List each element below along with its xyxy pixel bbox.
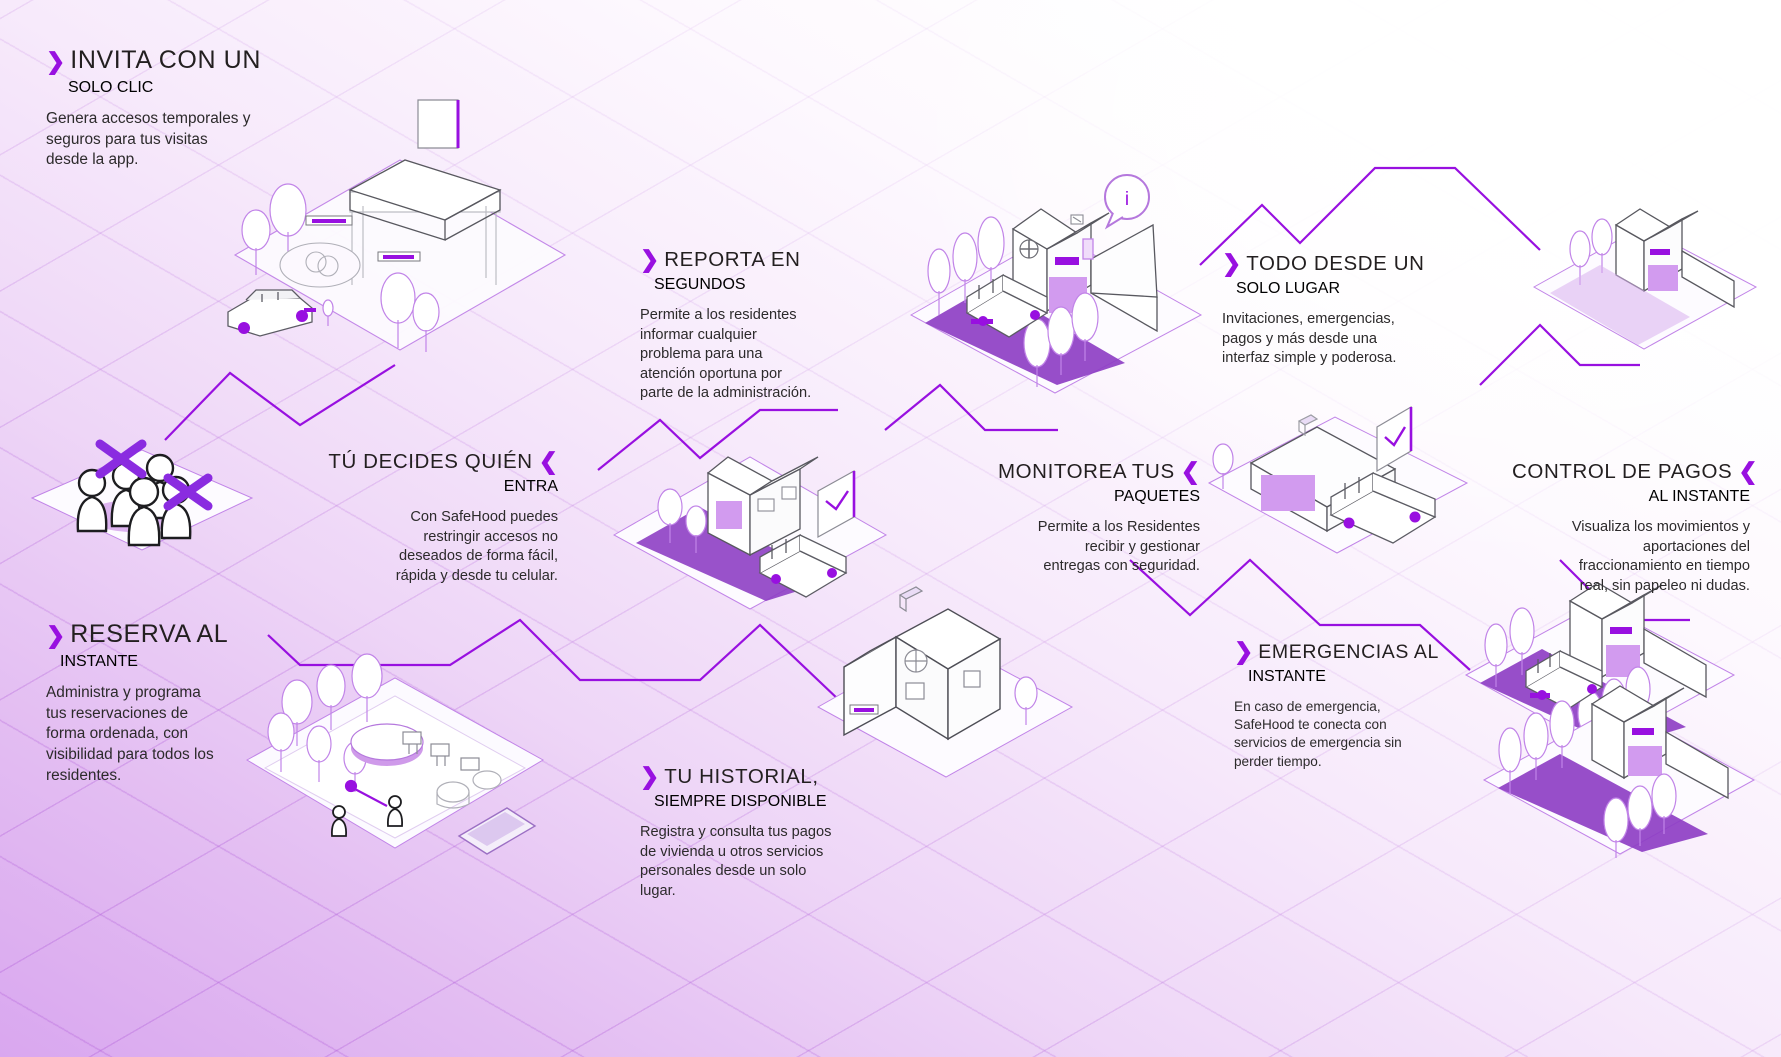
- heading-line-2: SEGUNDOS: [654, 276, 746, 293]
- heading-todo: ❯TODO DESDE UN: [1222, 252, 1472, 276]
- heading-line-2: PAQUETES: [1114, 488, 1200, 505]
- illustration-house-small-top-right: [1520, 175, 1770, 355]
- chevron-left-icon: ❮: [1738, 460, 1757, 483]
- text-block-monitorea: MONITOREA TUS❮ PAQUETES Permite a los Re…: [940, 460, 1200, 577]
- heading-line-2: SOLO LUGAR: [1236, 280, 1340, 297]
- text-block-todo: ❯TODO DESDE UN SOLO LUGAR Invitaciones, …: [1222, 252, 1472, 369]
- heading-line-2: ENTRA: [504, 478, 558, 495]
- info-bubble-label: i: [1125, 189, 1129, 210]
- body-invita: Genera accesos temporales y seguros para…: [46, 109, 336, 171]
- illustration-house-history: [800, 575, 1090, 785]
- body-historial: Registra y consulta tus pagos de viviend…: [640, 823, 900, 901]
- chevron-right-icon: ❯: [46, 50, 65, 73]
- heading-decides: TÚ DECIDES QUIÉN❮: [270, 450, 558, 474]
- chevron-right-icon: ❯: [1234, 640, 1253, 663]
- text-block-reporta: ❯REPORTA EN SEGUNDOS Permite a los resid…: [640, 248, 890, 404]
- heading-reporta: ❯REPORTA EN: [640, 248, 890, 272]
- heading-emergencias: ❯EMERGENCIAS AL: [1234, 640, 1474, 664]
- heading-invita: ❯INVITA CON UN: [46, 46, 336, 75]
- heading-line-1: EMERGENCIAS AL: [1258, 641, 1439, 663]
- text-block-decides: TÚ DECIDES QUIÉN❮ ENTRA Con SafeHood pue…: [270, 450, 558, 586]
- text-block-emergencias: ❯EMERGENCIAS AL INSTANTE En caso de emer…: [1234, 640, 1474, 771]
- heading-reserva: ❯RESERVA AL: [46, 620, 306, 649]
- heading-line-1: REPORTA EN: [664, 248, 800, 271]
- heading-line-2: AL INSTANTE: [1649, 488, 1750, 505]
- illustration-house-payments: [1470, 650, 1770, 860]
- heading-historial: ❯TU HISTORIAL,: [640, 765, 900, 789]
- chevron-right-icon: ❯: [46, 624, 65, 647]
- chevron-left-icon: ❮: [1181, 460, 1200, 483]
- text-block-reserva: ❯RESERVA AL INSTANTE Administra y progra…: [46, 620, 306, 786]
- body-reporta: Permite a los residentes informar cualqu…: [640, 306, 890, 404]
- text-block-pagos: CONTROL DE PAGOS❮ AL INSTANTE Visualiza …: [1512, 460, 1750, 596]
- text-block-invita: ❯INVITA CON UN SOLO CLIC Genera accesos …: [46, 46, 336, 171]
- heading-line-1: TU HISTORIAL,: [664, 765, 818, 788]
- body-decides: Con SafeHood puedes restringir accesos n…: [270, 508, 558, 586]
- illustration-house-info: i: [895, 165, 1225, 400]
- heading-line-1: CONTROL DE PAGOS: [1512, 460, 1732, 483]
- chevron-left-icon: ❮: [539, 450, 558, 473]
- body-pagos: Visualiza los movimientos y aportaciones…: [1512, 518, 1750, 596]
- chevron-right-icon: ❯: [640, 248, 659, 271]
- heading-pagos: CONTROL DE PAGOS❮: [1512, 460, 1750, 484]
- heading-line-1: RESERVA AL: [70, 620, 228, 648]
- heading-line-2: INSTANTE: [1248, 668, 1326, 685]
- body-emergencias: En caso de emergencia, SafeHood te conec…: [1234, 698, 1474, 771]
- heading-monitorea: MONITOREA TUS❮: [940, 460, 1200, 484]
- text-block-historial: ❯TU HISTORIAL, SIEMPRE DISPONIBLE Regist…: [640, 765, 900, 901]
- heading-line-1: TODO DESDE UN: [1246, 252, 1424, 275]
- body-todo: Invitaciones, emergencias, pagos y más d…: [1222, 310, 1472, 369]
- infographic-canvas: i: [0, 0, 1781, 1057]
- heading-line-1: INVITA CON UN: [70, 46, 261, 74]
- chevron-right-icon: ❯: [1222, 252, 1241, 275]
- heading-line-1: TÚ DECIDES QUIÉN: [328, 450, 532, 473]
- heading-line-2: SOLO CLIC: [68, 79, 153, 96]
- body-reserva: Administra y programa tus reservaciones …: [46, 683, 306, 786]
- illustration-house-delivery-left: [1195, 365, 1495, 565]
- heading-line-2: INSTANTE: [60, 653, 138, 670]
- illustration-blocked-people: [22, 398, 262, 568]
- heading-line-1: MONITOREA TUS: [998, 460, 1175, 483]
- body-monitorea: Permite a los Residentes recibir y gesti…: [940, 518, 1200, 577]
- heading-line-2: SIEMPRE DISPONIBLE: [654, 793, 827, 810]
- chevron-right-icon: ❯: [640, 765, 659, 788]
